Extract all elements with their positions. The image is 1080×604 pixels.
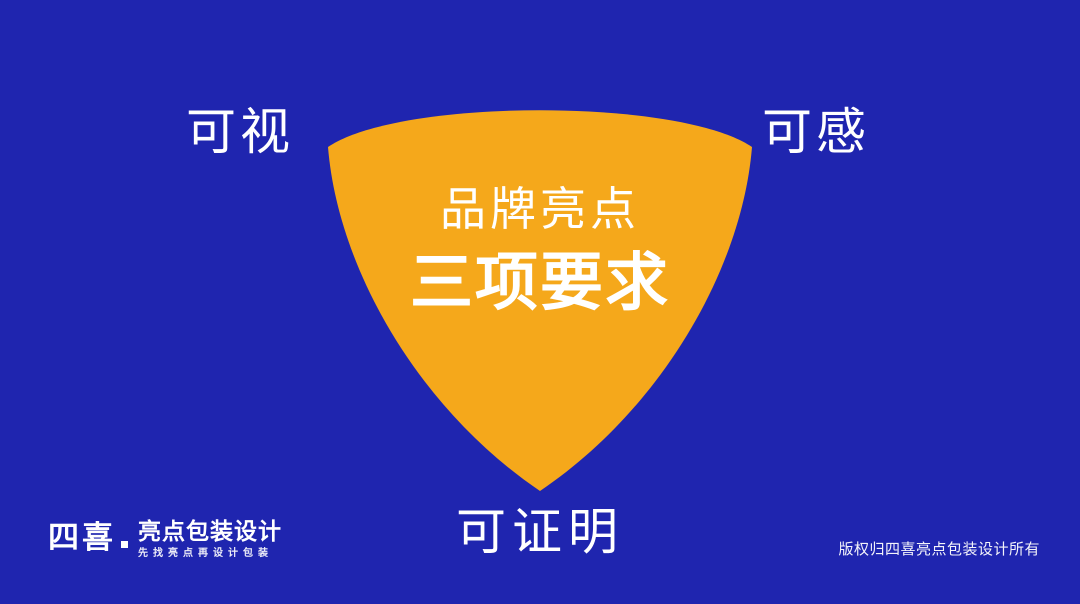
logo-wordmark-text: 四喜 — [48, 522, 116, 553]
slide-canvas: 品牌亮点 三项要求 可视 可感 可证明 四喜 亮点包装设计 先找亮点再设计包装 … — [0, 0, 1080, 604]
logo-company-name: 亮点包装设计 — [138, 519, 282, 545]
shield-title: 三项要求 — [0, 246, 1080, 320]
brand-logo: 四喜 亮点包装设计 先找亮点再设计包装 — [48, 519, 282, 573]
logo-text-block: 亮点包装设计 先找亮点再设计包装 — [138, 519, 282, 559]
logo-wordmark: 四喜 — [48, 522, 128, 553]
label-felt: 可感 — [762, 107, 870, 157]
shield-subtitle: 品牌亮点 — [0, 182, 1080, 236]
copyright-notice: 版权归四喜亮点包装设计所有 — [838, 538, 1040, 559]
label-visible: 可视 — [186, 107, 294, 157]
logo-dot-icon — [121, 541, 128, 548]
logo-tagline: 先找亮点再设计包装 — [138, 549, 282, 559]
